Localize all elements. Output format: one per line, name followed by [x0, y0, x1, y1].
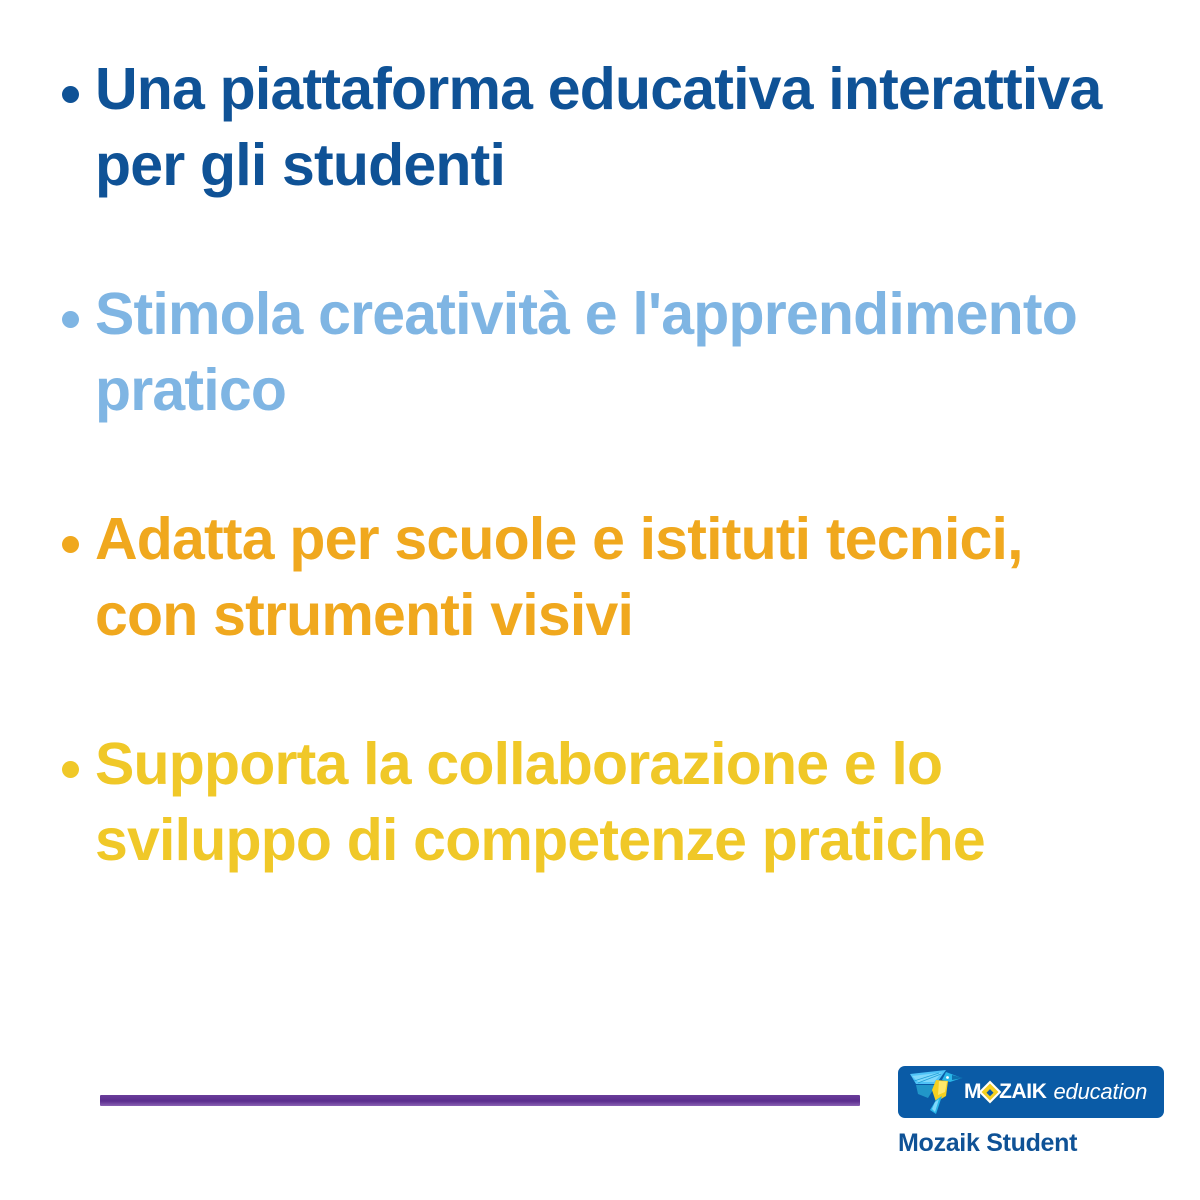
divider	[100, 1095, 860, 1106]
diamond-o-icon	[979, 1081, 1002, 1104]
bullet-text: Adatta per scuole e istituti tecnici, co…	[95, 502, 1122, 653]
bullet-list: Una piattaforma educativa interattiva pe…	[62, 52, 1122, 878]
bullet-text: Supporta la collaborazione e lo sviluppo…	[95, 727, 1122, 878]
logo-mozaik-text: M ZAIK	[964, 1080, 1047, 1104]
logo-mozaik-suffix: ZAIK	[999, 1080, 1046, 1104]
list-item: Supporta la collaborazione e lo sviluppo…	[62, 727, 1122, 878]
bullet-dot-icon	[62, 86, 79, 103]
list-item: Stimola creatività e l'apprendimento pra…	[62, 277, 1122, 428]
bullet-text: Stimola creatività e l'apprendimento pra…	[95, 277, 1122, 428]
bullet-dot-icon	[62, 761, 79, 778]
mozaik-education-logo: M ZAIK education	[898, 1066, 1164, 1118]
bullet-dot-icon	[62, 311, 79, 328]
logo-wordmark: M ZAIK education	[964, 1066, 1147, 1118]
bullet-text: Una piattaforma educativa interattiva pe…	[95, 52, 1122, 203]
hummingbird-icon	[906, 1068, 964, 1116]
divider-line	[100, 1095, 860, 1106]
logo-block: M ZAIK education Mozaik Student	[898, 1066, 1168, 1158]
list-item: Adatta per scuole e istituti tecnici, co…	[62, 502, 1122, 653]
logo-education-text: education	[1054, 1079, 1148, 1105]
bullet-dot-icon	[62, 536, 79, 553]
slide-canvas: Una piattaforma educativa interattiva pe…	[0, 0, 1200, 1200]
list-item: Una piattaforma educativa interattiva pe…	[62, 52, 1122, 203]
logo-caption: Mozaik Student	[898, 1129, 1168, 1158]
